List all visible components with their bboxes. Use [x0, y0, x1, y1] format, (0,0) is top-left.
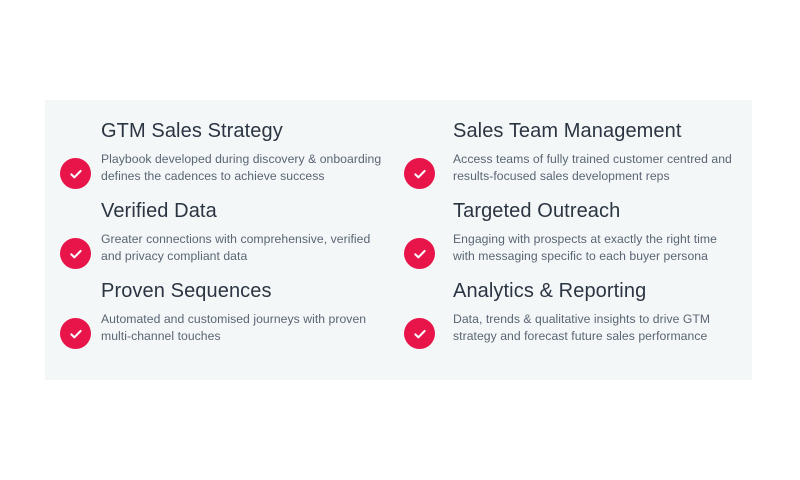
description-line: Access teams of fully trained customer c… — [453, 151, 742, 168]
description-line: with messaging specific to each buyer pe… — [453, 248, 742, 265]
check-circle-icon — [60, 238, 91, 269]
page-canvas: GTM Sales Strategy Playbook developed du… — [0, 0, 800, 480]
feature-text: GTM Sales Strategy Playbook developed du… — [101, 118, 387, 185]
feature-item-proven-sequences: Proven Sequences Automated and customise… — [45, 278, 397, 358]
feature-item-verified-data: Verified Data Greater connections with c… — [45, 198, 397, 278]
feature-grid: GTM Sales Strategy Playbook developed du… — [45, 100, 752, 380]
feature-description: Engaging with prospects at exactly the r… — [453, 231, 742, 265]
feature-text: Verified Data Greater connections with c… — [101, 198, 387, 265]
feature-title: GTM Sales Strategy — [101, 118, 387, 144]
description-line: Greater connections with comprehensive, … — [101, 231, 387, 248]
feature-text: Targeted Outreach Engaging with prospect… — [453, 198, 742, 265]
description-line: multi-channel touches — [101, 328, 387, 345]
description-line: results-focused sales development reps — [453, 168, 742, 185]
description-line: and privacy compliant data — [101, 248, 387, 265]
feature-description: Greater connections with comprehensive, … — [101, 231, 387, 265]
description-line: Playbook developed during discovery & on… — [101, 151, 387, 168]
check-circle-icon — [404, 158, 435, 189]
description-line: Engaging with prospects at exactly the r… — [453, 231, 742, 248]
feature-description: Automated and customised journeys with p… — [101, 311, 387, 345]
feature-item-gtm-sales-strategy: GTM Sales Strategy Playbook developed du… — [45, 118, 397, 198]
description-line: Automated and customised journeys with p… — [101, 311, 387, 328]
feature-title: Sales Team Management — [453, 118, 742, 144]
feature-title: Proven Sequences — [101, 278, 387, 304]
check-circle-icon — [404, 318, 435, 349]
description-line: defines the cadences to achieve success — [101, 168, 387, 185]
feature-title: Targeted Outreach — [453, 198, 742, 224]
feature-title: Verified Data — [101, 198, 387, 224]
feature-text: Sales Team Management Access teams of fu… — [453, 118, 742, 185]
feature-list-panel: GTM Sales Strategy Playbook developed du… — [45, 100, 752, 380]
feature-description: Data, trends & qualitative insights to d… — [453, 311, 742, 345]
feature-text: Proven Sequences Automated and customise… — [101, 278, 387, 345]
feature-text: Analytics & Reporting Data, trends & qua… — [453, 278, 742, 345]
feature-item-analytics-reporting: Analytics & Reporting Data, trends & qua… — [397, 278, 752, 358]
feature-item-targeted-outreach: Targeted Outreach Engaging with prospect… — [397, 198, 752, 278]
feature-item-sales-team-management: Sales Team Management Access teams of fu… — [397, 118, 752, 198]
check-circle-icon — [60, 318, 91, 349]
description-line: Data, trends & qualitative insights to d… — [453, 311, 742, 328]
feature-description: Access teams of fully trained customer c… — [453, 151, 742, 185]
check-circle-icon — [404, 238, 435, 269]
check-circle-icon — [60, 158, 91, 189]
description-line: strategy and forecast future sales perfo… — [453, 328, 742, 345]
feature-description: Playbook developed during discovery & on… — [101, 151, 387, 185]
feature-title: Analytics & Reporting — [453, 278, 742, 304]
